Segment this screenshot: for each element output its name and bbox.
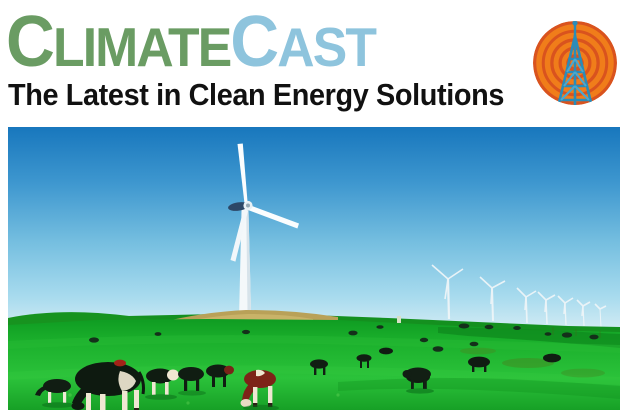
wordmark-cast-rest: AST [277, 16, 375, 78]
radio-tower-icon [533, 6, 617, 118]
wordmark-climate-rest: LIMATE [53, 16, 230, 78]
wordmark-cast: CAST [230, 2, 375, 82]
hero-photograph [8, 127, 620, 410]
wordmark-cast-initial: C [230, 2, 277, 82]
wordmark-climate-initial: C [6, 2, 53, 82]
climatecast-banner: CLIMATECAST The Latest in Clean Energy S… [0, 0, 620, 410]
site-wordmark: CLIMATECAST [6, 4, 375, 80]
wordmark-climate: CLIMATE [6, 2, 230, 82]
site-tagline: The Latest in Clean Energy Solutions [8, 78, 504, 112]
masthead-header: CLIMATECAST The Latest in Clean Energy S… [0, 0, 620, 127]
